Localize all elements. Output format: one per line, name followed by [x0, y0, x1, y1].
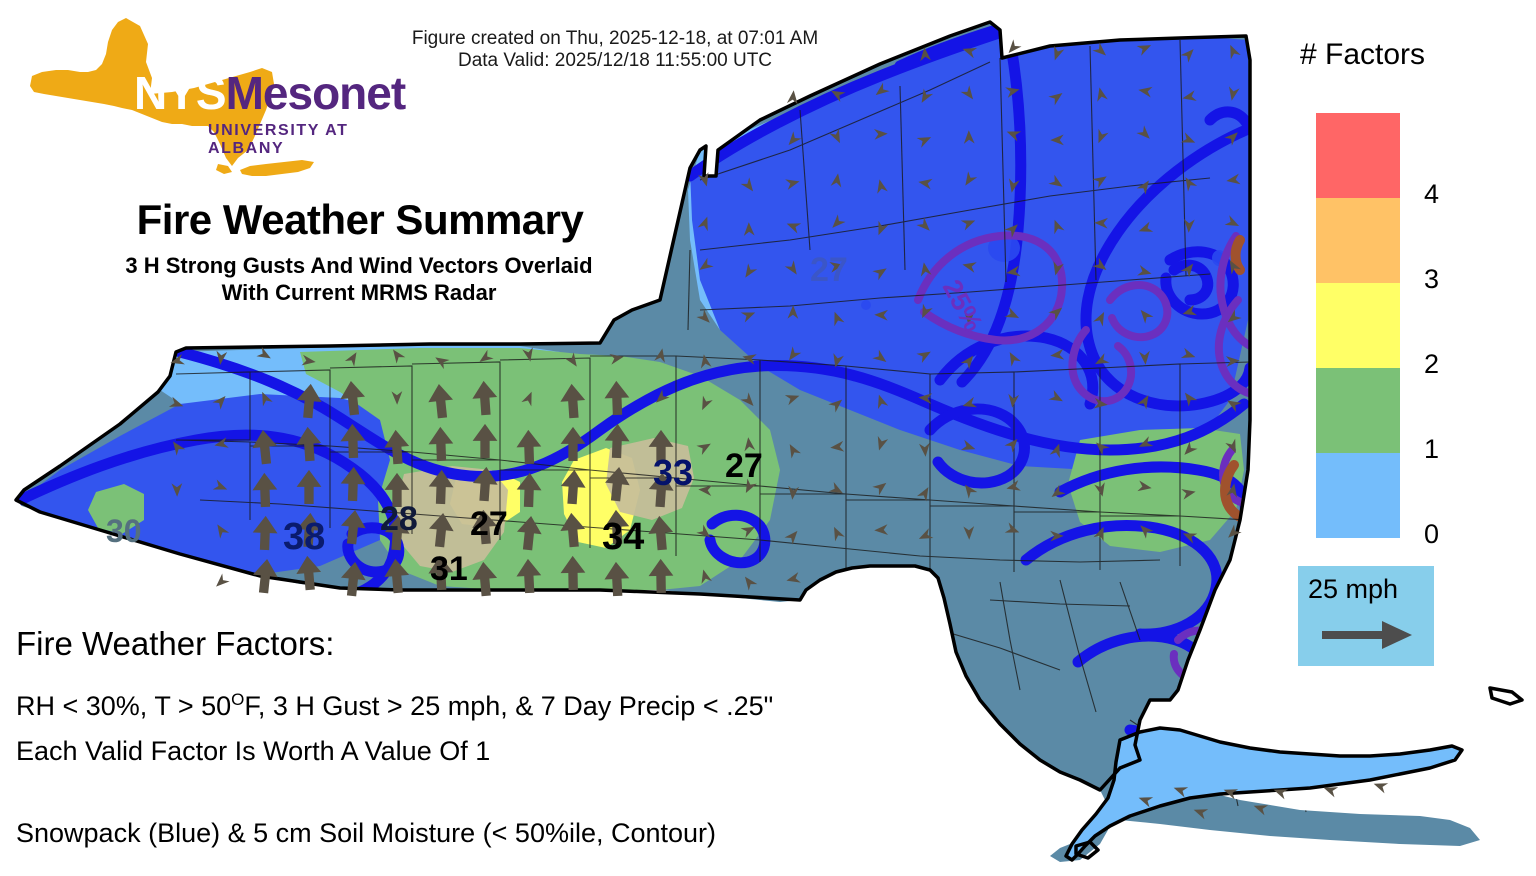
factors-criteria-line: RH < 30%, T > 50OF, 3 H Gust > 25 mph, &…: [16, 690, 773, 722]
factor-value-note: Each Valid Factor Is Worth A Value Of 1: [16, 736, 490, 767]
wind-vector: [604, 380, 630, 415]
gust-label: 31: [430, 550, 468, 589]
wind-vector: [872, 350, 889, 367]
wind-vector: [1005, 523, 1021, 538]
wind-vector: [1222, 785, 1238, 800]
wind-vector: [1137, 392, 1153, 409]
gust-label: 30: [106, 513, 142, 550]
wind-vector: [785, 391, 801, 406]
wind-vector: [917, 177, 932, 190]
wind-vector: [427, 512, 455, 549]
wind-vector: [1192, 805, 1208, 820]
logo-university: UNIVERSITY AT ALBANY: [208, 122, 392, 158]
wind-vector: [828, 482, 845, 498]
wind-vector: [1004, 39, 1021, 56]
wind-vector: [961, 440, 977, 454]
wind-vector: [256, 347, 273, 363]
wind-vector: [427, 383, 455, 420]
wind-vector: [828, 86, 845, 102]
wind-vector: [383, 558, 411, 594]
wind-vector: [1136, 125, 1153, 142]
logo-mesonet: Mesonet: [226, 67, 406, 119]
wind-vector: [961, 259, 977, 273]
wind-vector: [428, 426, 454, 461]
wind-vector: [830, 310, 845, 326]
wind-vector: [740, 392, 757, 409]
wind-vector: [963, 526, 974, 540]
wind-vector: [1172, 783, 1188, 798]
wind-vector: [522, 347, 535, 362]
factor-0-region-3: [690, 30, 1250, 470]
wind-vector: [961, 44, 977, 58]
wind-vector: [473, 424, 498, 458]
wind-vector: [1092, 172, 1109, 188]
wind-vector: [1137, 85, 1152, 98]
wind-vector: [1094, 482, 1108, 498]
wind-vector: [212, 573, 229, 590]
wind-vector: [696, 309, 713, 326]
wind-vector: [1093, 129, 1108, 146]
wind-vector: [1180, 45, 1197, 62]
wind-vector: [831, 172, 844, 187]
mrms-radar-layer: [1207, 240, 1264, 687]
wind-vector: [1181, 260, 1198, 277]
wind-vector: [698, 568, 712, 584]
wind-vector: [1183, 219, 1194, 233]
wind-vector: [1050, 349, 1065, 361]
wind-vector: [919, 261, 932, 276]
criteria-part-2: F, 3 H Gust > 25 mph, & 7 Day Precip < .…: [244, 691, 773, 721]
gust-label: 38: [283, 516, 325, 559]
wind-vector: [961, 352, 978, 369]
colorbar-tick-4: 4: [1424, 179, 1439, 210]
wind-vector: [1093, 353, 1110, 369]
wind-vector: [391, 391, 402, 405]
colorbar-band-3: [1316, 198, 1400, 283]
wind-vector: [1092, 42, 1109, 59]
wind-vector: [918, 392, 932, 404]
wind-vector: [1137, 436, 1154, 451]
wind-vector: [169, 438, 186, 455]
wind-vector: [1005, 307, 1022, 323]
wind-vector: [1225, 257, 1241, 274]
wind-vector: [1050, 134, 1064, 145]
wind-vector: [472, 466, 499, 502]
wind-vector: [565, 352, 582, 369]
wind-vector: [604, 423, 630, 458]
wind-vector: [697, 396, 712, 413]
wind-vector: [830, 353, 844, 369]
wind-vector: [961, 481, 978, 498]
wind-vector: [1224, 310, 1241, 327]
factor-0-region: [688, 28, 1010, 358]
wind-vector: [1180, 441, 1197, 458]
colorbar-band-0: [1316, 453, 1400, 538]
wind-vector: [647, 515, 675, 551]
wind-vector: [1005, 127, 1021, 142]
factor-1-region-west: [300, 348, 780, 592]
wind-vector: [560, 556, 585, 591]
wind-vector: [1005, 266, 1020, 279]
wind-vector: [1050, 218, 1065, 234]
wind-vector: [1181, 528, 1198, 543]
colorbar-band-4: [1316, 113, 1400, 198]
wind-vector: [1094, 398, 1109, 410]
wind-vector: [521, 390, 536, 407]
wind-vector: [1226, 355, 1240, 367]
wind-vector: [428, 469, 454, 504]
wind-vector: [829, 129, 845, 146]
factors-colorbar: [1316, 113, 1400, 538]
colorbar-tick-3: 3: [1424, 264, 1439, 295]
wind-vector: [696, 439, 713, 455]
wind-vector: [212, 392, 229, 409]
wind-vector: [1005, 84, 1021, 98]
wind-vector: [1004, 220, 1021, 237]
wind-vector: [251, 429, 279, 466]
long-island-region: [1050, 700, 1530, 876]
wind-vector: [917, 304, 932, 321]
wind-vector: [252, 472, 278, 507]
wind-vector: [257, 390, 272, 407]
wind-vector: [295, 383, 323, 419]
gust-label: 34: [602, 516, 644, 559]
page-subtitle: 3 H Strong Gusts And Wind Vectors Overla…: [24, 252, 694, 306]
wind-vector: [1252, 801, 1268, 816]
wind-vector: [1048, 485, 1065, 502]
colorbar-tick-0: 0: [1424, 519, 1439, 550]
wind-vector: [743, 222, 754, 236]
wind-vector: [1048, 303, 1065, 320]
wind-vector: [432, 353, 449, 369]
factor-1-region-east: [1068, 428, 1244, 552]
wind-vector: [1372, 779, 1388, 794]
wind-vector: [874, 178, 888, 194]
wind-vector: [874, 436, 888, 452]
wind-vector: [1272, 785, 1288, 800]
wind-vector: [389, 346, 406, 363]
wind-vector: [963, 311, 974, 325]
legend-title: # Factors: [1300, 38, 1425, 72]
wind-vector: [1048, 390, 1065, 406]
wind-vector: [1050, 261, 1064, 277]
wind-vector: [559, 512, 587, 548]
wind-vector: [698, 215, 713, 231]
wind-vector: [471, 561, 499, 597]
wind-vector: [559, 383, 586, 419]
wind-scale-key: 25 mph: [1298, 566, 1434, 666]
wind-vector: [515, 515, 543, 552]
wind-vector: [1048, 175, 1065, 192]
wind-vector: [1094, 86, 1108, 102]
wind-vector: [1225, 174, 1240, 187]
snowpack-soil-note: Snowpack (Blue) & 5 cm Soil Moisture (< …: [16, 818, 716, 849]
wind-vector: [916, 217, 933, 234]
wind-vector: [917, 528, 934, 543]
wind-vector: [1092, 258, 1109, 275]
wind-vector: [787, 486, 799, 501]
wind-vector: [251, 558, 279, 595]
wind-vector: [1137, 222, 1153, 237]
wind-vector: [339, 380, 367, 417]
wind-vector: [872, 264, 889, 280]
wind-vector: [699, 353, 712, 368]
wind-vector: [1093, 525, 1108, 542]
wind-vector: [1181, 486, 1196, 499]
factor-0-region-4: [20, 394, 430, 576]
wind-vector: [961, 397, 977, 411]
colorbar-band-2: [1316, 283, 1400, 368]
wind-vector: [830, 441, 845, 453]
wind-vector: [874, 128, 888, 139]
wind-vector: [1005, 349, 1021, 366]
wind-arrow-icon: [1320, 618, 1420, 652]
soil-moisture-contour-layer: [918, 235, 1270, 680]
wind-vector: [1137, 40, 1154, 55]
wind-vector: [1137, 793, 1153, 808]
wind-vector: [785, 260, 802, 277]
wind-vector: [654, 347, 667, 362]
wind-vector: [215, 351, 227, 366]
wind-vector: [828, 214, 845, 231]
wind-vector: [1050, 442, 1065, 458]
wind-vector: [698, 484, 712, 496]
wind-vector: [919, 47, 931, 61]
page-title: Fire Weather Summary: [40, 196, 680, 244]
wind-vector: [1181, 90, 1196, 103]
wind-vector: [603, 466, 631, 503]
wind-vector: [516, 558, 543, 593]
wind-vector: [1092, 438, 1109, 455]
wind-vector: [785, 441, 801, 458]
wind-vector: [917, 88, 933, 105]
wind-vector: [874, 393, 888, 409]
subtitle-line-1: 3 H Strong Gusts And Wind Vectors Overla…: [24, 252, 694, 279]
gust-label: 27: [470, 505, 508, 544]
wind-vector: [916, 347, 933, 363]
wind-vector: [1181, 348, 1197, 362]
wind-vector: [339, 561, 367, 598]
wind-vector: [476, 350, 493, 367]
wind-vector: [516, 472, 542, 507]
wind-vector: [785, 219, 801, 234]
wind-vector: [1007, 394, 1019, 409]
wind-vector: [698, 172, 712, 188]
figure-timestamps: Figure created on Thu, 2025-12-18, at 07…: [365, 28, 865, 72]
fire-weather-factors-heading: Fire Weather Factors:: [16, 625, 334, 663]
wind-vector: [961, 85, 978, 102]
wind-vector: [963, 130, 974, 144]
factor-0-region-2: [160, 346, 560, 428]
gust-label: 27: [810, 251, 848, 290]
snowpack-core-layer: [861, 234, 1226, 310]
wind-vector: [1005, 480, 1021, 494]
colorbar-tick-2: 2: [1424, 349, 1439, 380]
wind-vector: [741, 573, 758, 590]
wind-vector: [213, 437, 229, 451]
wind-vector: [471, 380, 498, 416]
wind-vector: [1093, 310, 1109, 327]
wind-vector: [741, 351, 757, 365]
wind-vector: [1226, 482, 1239, 497]
wind-vector: [696, 258, 713, 275]
wind-vector: [1181, 174, 1197, 191]
wind-vector: [302, 355, 317, 368]
wind-vector: [784, 131, 801, 148]
wind-vector: [1225, 439, 1240, 456]
wind-vector: [345, 349, 361, 366]
wind-vector: [828, 395, 845, 412]
wind-vector: [213, 521, 229, 538]
wind-vector: [917, 132, 934, 147]
wind-vector: [1094, 217, 1108, 228]
logo-wordmark: NYSMesonet: [134, 70, 405, 116]
wind-vector: [561, 427, 586, 461]
wind-scale-label: 25 mph: [1308, 574, 1398, 605]
wind-vector: [1137, 177, 1154, 194]
wind-vector: [1137, 306, 1154, 323]
wind-vector: [1322, 783, 1338, 798]
wind-vector: [169, 397, 185, 412]
wind-vector: [295, 426, 322, 462]
wind-vector: [919, 443, 931, 457]
wind-vector: [604, 561, 631, 596]
wind-vector: [560, 469, 587, 505]
contour-label-25pct: 25%: [937, 275, 989, 337]
wind-vector: [961, 171, 977, 188]
wind-vector: [1004, 435, 1021, 452]
wind-vector: [1050, 530, 1064, 541]
wind-vector: [872, 83, 889, 100]
wind-vector: [609, 351, 624, 364]
colorbar-tick-1: 1: [1424, 434, 1439, 465]
wind-vector: [785, 572, 801, 586]
wind-vector: [872, 479, 889, 496]
wind-vector: [1048, 89, 1065, 106]
wind-vector: [873, 221, 888, 238]
wind-vector: [785, 346, 802, 363]
wind-vector: [213, 479, 230, 494]
wind-vector: [1224, 128, 1241, 145]
wind-vector: [829, 525, 845, 542]
wind-vector: [1050, 46, 1065, 62]
wind-vector: [171, 483, 182, 497]
wind-vector: [1224, 396, 1241, 412]
wind-vector: [1226, 86, 1239, 101]
wind-vector: [1136, 521, 1153, 538]
wind-vector: [383, 429, 410, 465]
wind-vector: [252, 515, 278, 550]
wind-vector: [1181, 389, 1198, 406]
wind-vector: [340, 466, 366, 501]
wind-vector: [741, 263, 757, 280]
wind-vector: [340, 423, 366, 458]
data-valid-text: Data Valid: 2025/12/18 11:55:00 UTC: [365, 50, 865, 72]
wind-vector: [1181, 132, 1198, 147]
wind-vector: [696, 525, 713, 542]
wind-vector: [169, 354, 185, 368]
degree-symbol: O: [231, 690, 244, 709]
wind-vector: [961, 215, 978, 230]
wind-vector: [787, 305, 798, 319]
wind-vector: [741, 177, 758, 194]
wind-vector: [1224, 524, 1241, 541]
subtitle-line-2: With Current MRMS Radar: [24, 279, 694, 306]
wind-vector: [1137, 265, 1153, 279]
wind-vector: [295, 555, 323, 591]
wind-vector: [741, 522, 758, 538]
logo-nys: NYS: [134, 67, 226, 119]
wind-vector: [1006, 178, 1019, 193]
figure-created-text: Figure created on Thu, 2025-12-18, at 07…: [365, 28, 865, 50]
wind-vector: [784, 527, 801, 544]
wind-vector: [648, 559, 673, 594]
gust-label: 33: [653, 452, 693, 494]
wind-vector: [917, 484, 933, 501]
wind-vector: [741, 307, 758, 322]
gust-label: 28: [380, 500, 418, 539]
gust-label: 27: [725, 447, 763, 486]
wind-vector: [652, 389, 669, 406]
wind-vector: [874, 309, 888, 320]
criteria-part-1: RH < 30%, T > 50: [16, 691, 231, 721]
colorbar-band-1: [1316, 368, 1400, 453]
wind-vector: [785, 176, 801, 190]
wind-vector: [1139, 351, 1151, 365]
wind-vector: [1225, 43, 1240, 60]
wind-vector: [1225, 215, 1242, 231]
wind-vector: [874, 524, 888, 535]
wind-vector: [787, 90, 799, 105]
wind-vector: [339, 509, 367, 546]
wind-vector: [1137, 481, 1152, 494]
wind-vector: [516, 429, 542, 464]
nysm-logo: NYSMesonet UNIVERSITY AT ALBANY: [22, 14, 392, 174]
wind-vector: [1181, 305, 1197, 319]
wind-vector: [297, 470, 322, 504]
